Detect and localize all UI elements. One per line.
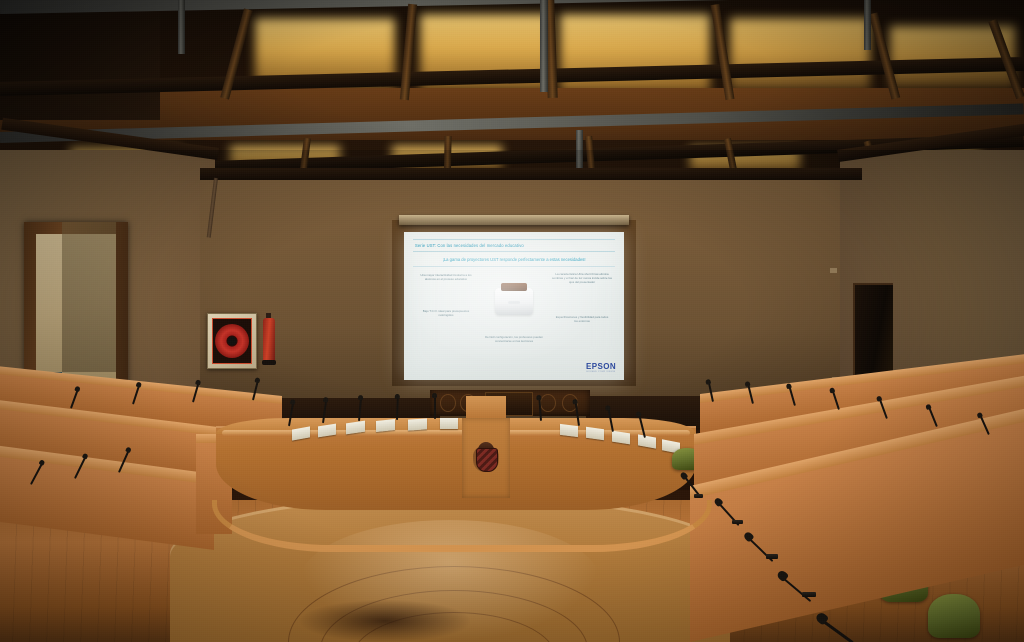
- projector-top-panel: [501, 283, 527, 291]
- name-card: [408, 418, 427, 430]
- slide-content: Serie UST: Con las necesidades del merca…: [404, 232, 624, 380]
- epson-logo: EPSON EXCEED YOUR VISION: [586, 362, 616, 374]
- fire-hose-reel-icon: [215, 324, 249, 358]
- fire-extinguisher[interactable]: [263, 318, 275, 362]
- carving-motif-3: [540, 394, 556, 412]
- mic-head: [573, 399, 578, 405]
- decorative-carved-panel: [430, 390, 590, 416]
- doorway-inner-shade: [62, 222, 116, 372]
- crest-shield: [476, 448, 498, 472]
- fire-hose-reel-cabinet[interactable]: [207, 313, 257, 369]
- cabinet-interior: [212, 318, 252, 364]
- chair-right-11: [928, 594, 980, 638]
- slide-blurb-bottom-left: Bajo T.C.O. ideal para presupuestos rest…: [419, 309, 473, 317]
- extinguisher-base: [262, 360, 276, 365]
- name-card: [440, 418, 458, 429]
- municipal-coat-of-arms: [473, 442, 499, 474]
- slide-blurb-top-left: Una mayor interactividad involucra a los…: [417, 273, 475, 281]
- mic-head: [706, 379, 712, 385]
- mic-head: [395, 394, 400, 399]
- mic-base-right-4: [802, 592, 816, 597]
- mic-base-right-2: [732, 520, 743, 524]
- slide-title: Serie UST: Con las necesidades del merca…: [413, 240, 615, 251]
- mic-head: [358, 395, 363, 400]
- microphone-dais-3[interactable]: [358, 396, 360, 421]
- mic-head: [537, 395, 542, 400]
- name-card: [376, 419, 395, 432]
- name-card: [560, 424, 578, 437]
- mic-head: [290, 399, 295, 405]
- slide-subtitle: ¡La gama de proyectores UST responde per…: [413, 252, 615, 266]
- speaker-podium[interactable]: [466, 396, 506, 420]
- mic-head: [605, 405, 610, 411]
- slide-blurb-bottom-right: Especificaciones y flexibilidad para tod…: [555, 315, 609, 323]
- projector-product-image: [495, 281, 533, 315]
- slide-body: Una mayor interactividad involucra a los…: [413, 267, 615, 359]
- floor-shadow-patch: [300, 600, 470, 642]
- hose-reel-hub: [228, 337, 237, 346]
- epson-wordmark: EPSON: [586, 362, 616, 371]
- council-chamber-photo: Serie UST: Con las necesidades del merca…: [0, 0, 1024, 642]
- dais-front-railing: [212, 500, 712, 552]
- microphone-dais-4[interactable]: [396, 395, 397, 420]
- name-card: [586, 427, 604, 441]
- carving-motif-1: [440, 394, 456, 412]
- projection-screen[interactable]: Serie UST: Con las necesidades del merca…: [404, 232, 624, 380]
- mic-head: [432, 393, 437, 398]
- mic-head: [323, 397, 328, 403]
- projector-lens: [508, 301, 520, 304]
- slide-blurb-top-right: La característica Ultra short throw elim…: [551, 272, 613, 285]
- mic-base-right-3: [766, 554, 778, 559]
- slide-blurb-bottom-center: De fácil configuración, los profesores p…: [479, 335, 549, 343]
- projection-screen-housing[interactable]: [399, 215, 629, 225]
- wall-plate-3: [830, 268, 837, 273]
- mic-base-right-1: [694, 494, 703, 498]
- epson-tagline: EXCEED YOUR VISION: [586, 371, 616, 373]
